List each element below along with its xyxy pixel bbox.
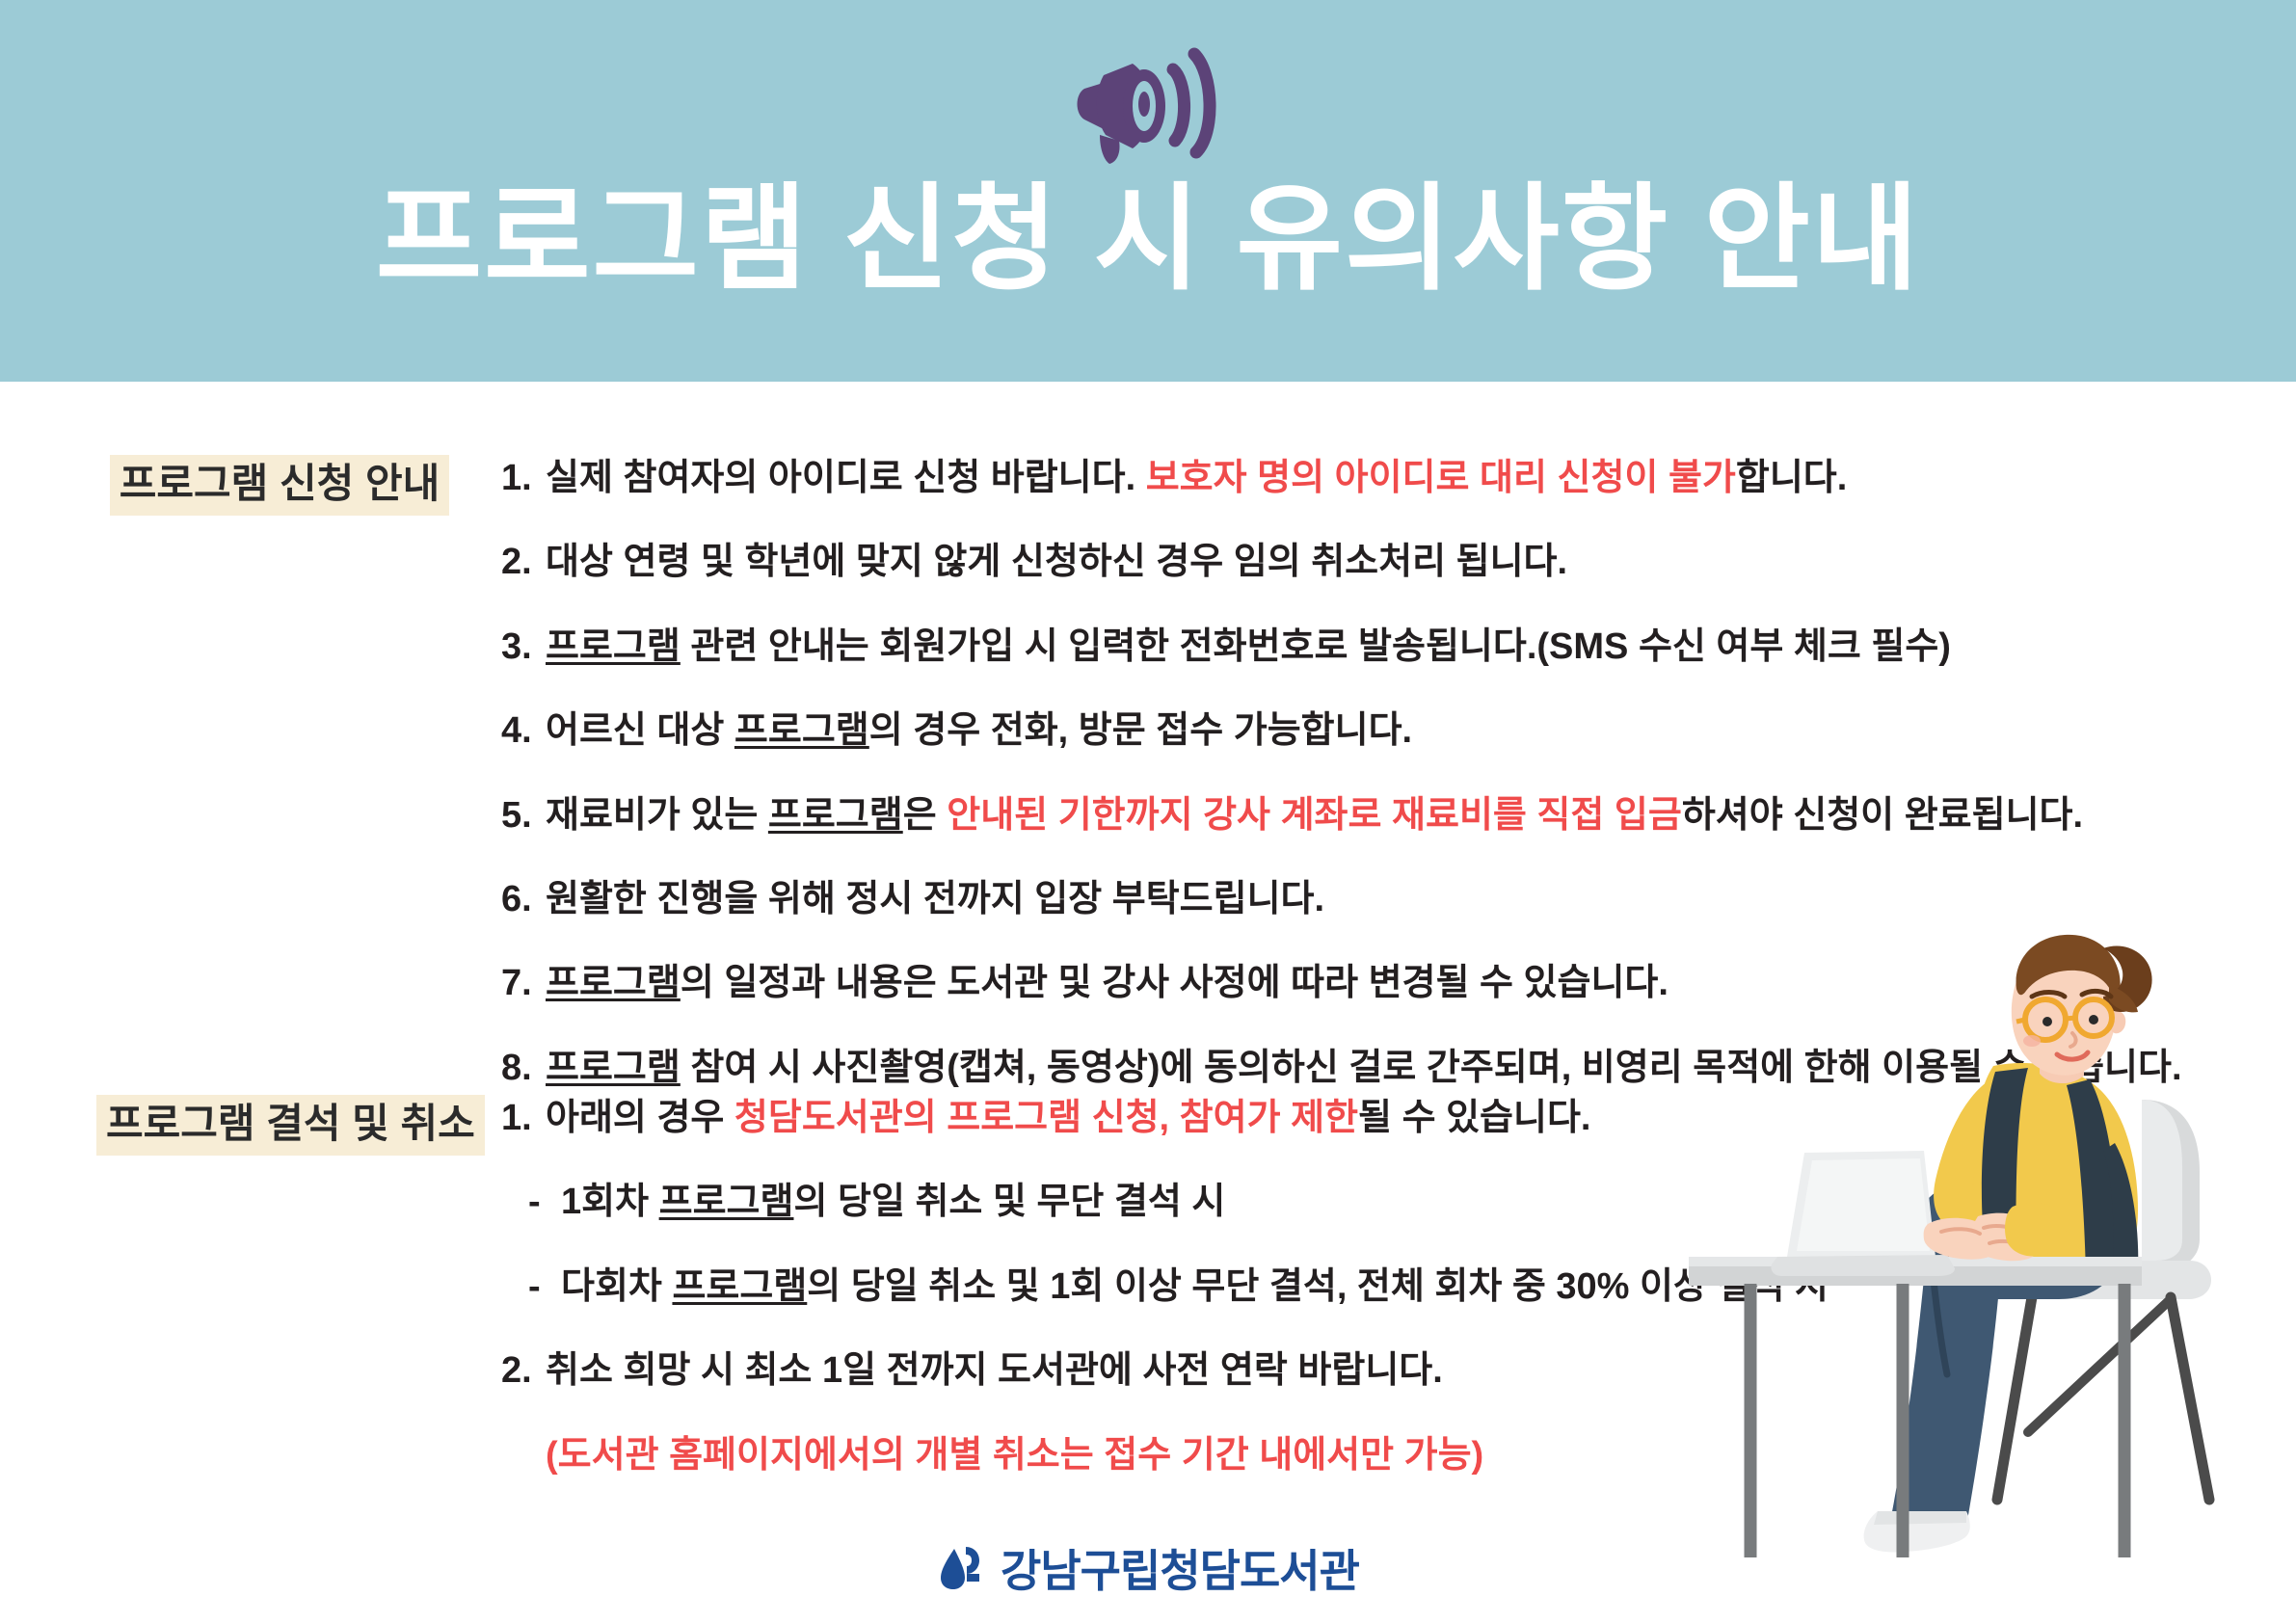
body-text: 합니다. [1736,458,1847,498]
woman-at-laptop-illustration [1689,921,2286,1557]
footer-logo-text: 강남구립청담도서관 [1001,1536,1359,1600]
list-number-marker: 2. [501,539,546,586]
notice-item: 1. 실제 참여자의 아이디로 신청 바랍니다. 보호자 명의 아이디로 대리 … [501,455,2256,502]
notice-item: 5. 재료비가 있는 프로그램은 안내된 기한까지 강사 계좌로 재료비를 직접… [501,792,2256,839]
notice-item: 6. 원활한 진행을 위해 정시 전까지 입장 부탁드립니다. [501,876,2256,923]
list-number-marker: 2. [501,1347,546,1395]
emphasis-text: 청담도서관의 프로그램 신청, 참여가 제한 [734,1098,1358,1138]
body-text: 프로그램 [546,963,681,1003]
list-number-marker: 6. [501,876,546,923]
page-title: 프로그램 신청 시 유의사항 안내 [376,172,1921,308]
body-text: 대상 연령 및 학년에 맞지 않게 신청하신 경우 임의 취소처리 됩니다. [546,542,1567,582]
body-text: 프로그램 [672,1266,807,1307]
notice-item: 3. 프로그램 관련 안내는 회원가입 시 입력한 전화번호로 발송됩니다.(S… [501,624,2256,671]
body-text: 다회차 [561,1266,672,1307]
emphasis-text: 안내된 기한까지 강사 계좌로 재료비를 직접 입금 [947,795,1682,836]
notice-item: 4. 어르신 대상 프로그램의 경우 전화, 방문 접수 가능합니다. [501,707,2256,755]
body-text: 하셔야 신청이 완료됩니다. [1682,795,2083,836]
notice-item: 2. 대상 연령 및 학년에 맞지 않게 신청하신 경우 임의 취소처리 됩니다… [501,539,2256,586]
body-text: 프로그램 [768,795,903,836]
body-text: 재료비가 있는 [546,795,768,836]
section-heading-2-label: 프로그램 결석 및 취소 [96,1095,485,1156]
list-dash-marker: - [528,1179,561,1226]
emphasis-text: 보호자 명의 아이디로 대리 신청이 불가 [1146,458,1736,498]
body-text: 원활한 진행을 위해 정시 전까지 입장 부탁드립니다. [546,879,1324,919]
body-text: 프로그램 [546,626,681,667]
body-text: 의 당일 취소 및 무단 결석 시 [793,1182,1225,1222]
body-text: 1회차 [561,1182,659,1222]
body-text: 은 [903,795,948,836]
body-text: 관련 안내는 회원가입 시 입력한 전화번호로 발송됩니다.(SMS 수신 여부… [681,626,1951,667]
body-text: 취소 희망 시 최소 1일 전까지 도서관에 사전 연락 바랍니다. [546,1350,1443,1391]
megaphone-icon [1061,25,1235,170]
section-heading-2: 프로그램 결석 및 취소 [96,1095,463,1156]
list-number-marker: 7. [501,960,546,1007]
body-text: 프로그램 [546,1048,681,1088]
body-text: 프로그램 [659,1182,794,1222]
body-text: 의 당일 취소 및 1회 이상 무단 결석, 전체 회차 중 30% 이상 결석… [807,1266,1829,1307]
section-heading-1-label: 프로그램 신청 안내 [110,455,449,516]
cheongdam-library-mark-icon [937,1543,987,1593]
list-number-marker: 3. [501,624,546,671]
body-text: 아래의 경우 [546,1098,734,1138]
body-text: 될 수 있습니다. [1358,1098,1590,1138]
body-text: 의 경우 전화, 방문 접수 가능합니다. [869,710,1412,751]
list-dash-marker: - [528,1264,561,1311]
emphasis-text: (도서관 홈페이지에서의 개별 취소는 접수 기간 내에서만 가능) [546,1435,1483,1476]
section-heading-1: 프로그램 신청 안내 [96,455,463,516]
body-text: 실제 참여자의 아이디로 신청 바랍니다. [546,458,1146,498]
list-number-marker: 1. [501,1095,546,1142]
body-text: 어르신 대상 [546,710,734,751]
list-number-marker: 1. [501,455,546,502]
list-number-marker: 5. [501,792,546,839]
header-banner: 프로그램 신청 시 유의사항 안내 [0,0,2296,382]
content-area: 프로그램 신청 안내 1. 실제 참여자의 아이디로 신청 바랍니다. 보호자 … [0,382,2296,1623]
footer-logo: 강남구립청담도서관 [0,1536,2296,1600]
list-number-marker: 8. [501,1045,546,1092]
body-text: 프로그램 [734,710,869,751]
list-number-marker: 4. [501,707,546,755]
body-text: 의 일정과 내용은 도서관 및 강사 사정에 따라 변경될 수 있습니다. [681,963,1669,1003]
